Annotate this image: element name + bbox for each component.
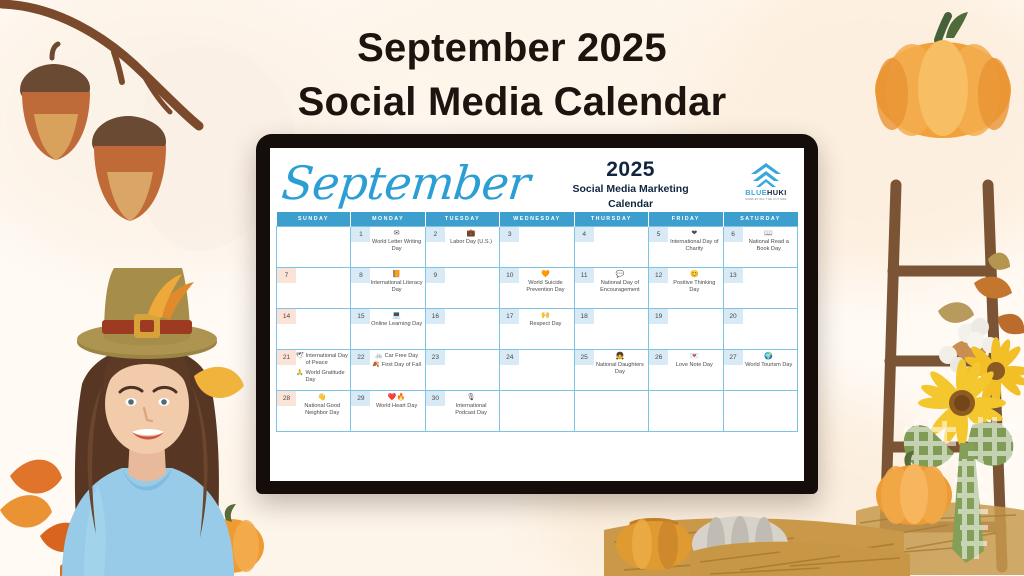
calendar-month-script: September	[279, 156, 532, 210]
event-emoji-icon: 🌍	[743, 353, 795, 361]
brand-second-word: HUKI	[767, 188, 787, 197]
calendar-grid: SUNDAYMONDAYTUESDAYWEDNESDAYTHURSDAYFRID…	[276, 212, 798, 432]
calendar-cell-empty[interactable]	[723, 391, 797, 432]
laptop-mockup: September 2025 Social Media Marketing Ca…	[256, 134, 818, 494]
event-emoji-icon: 😊	[668, 271, 720, 279]
calendar-day-cell-20[interactable]: 20	[723, 309, 797, 350]
day-number: 6	[724, 227, 743, 242]
calendar-event[interactable]: 🧡World Suicide Prevention Day	[519, 271, 571, 294]
weekday-header-monday: MONDAY	[351, 212, 425, 227]
calendar-event[interactable]: 👋National Good Neighbor Day	[296, 394, 348, 417]
event-label: Positive Thinking Day	[673, 280, 715, 293]
day-number: 12	[649, 268, 668, 283]
calendar-day-cell-18[interactable]: 18	[574, 309, 648, 350]
day-number: 11	[575, 268, 594, 283]
event-emoji-icon: 📖	[743, 230, 795, 238]
event-emoji-icon: ❤️🔥	[370, 394, 422, 402]
event-label: International Literacy Day	[371, 280, 423, 293]
weekday-header-row: SUNDAYMONDAYTUESDAYWEDNESDAYTHURSDAYFRID…	[277, 212, 798, 227]
laptop-lid: September 2025 Social Media Marketing Ca…	[256, 134, 818, 494]
calendar-week-row: 21🕊International Day of Peace🙏World Grat…	[277, 350, 798, 391]
day-number: 29	[351, 391, 370, 406]
calendar-day-cell-15[interactable]: 15💻Online Learning Day	[351, 309, 425, 350]
event-emoji-icon: 🧡	[519, 271, 571, 279]
day-number: 4	[575, 227, 594, 242]
calendar-day-cell-13[interactable]: 13	[723, 268, 797, 309]
calendar-day-cell-25[interactable]: 25👧National Daughters Day	[574, 350, 648, 391]
calendar-day-cell-1[interactable]: 1✉World Letter Writing Day	[351, 227, 425, 268]
calendar-day-cell-19[interactable]: 19	[649, 309, 723, 350]
calendar-day-cell-11[interactable]: 11💬National Day of Encouragement	[574, 268, 648, 309]
event-label: International Day of Peace	[306, 353, 349, 368]
brand-logo: BLUEHUKI MARKETING THE FUTURE	[738, 156, 794, 201]
brand-tagline: MARKETING THE FUTURE	[745, 197, 786, 201]
calendar-event[interactable]: 🙏World Gratitude Day	[296, 370, 348, 385]
calendar-day-cell-8[interactable]: 8📙International Literacy Day	[351, 268, 425, 309]
event-emoji-icon: ❤	[668, 230, 720, 238]
weekday-header-tuesday: TUESDAY	[425, 212, 499, 227]
calendar-day-cell-6[interactable]: 6📖National Read a Book Day	[723, 227, 797, 268]
event-label: National Read a Book Day	[749, 239, 789, 252]
event-label: Respect Day	[529, 321, 561, 327]
calendar-event[interactable]: 📖National Read a Book Day	[743, 230, 795, 253]
headline-line-1: September 2025	[0, 26, 1024, 72]
chevron-stack-icon	[749, 162, 783, 188]
calendar-cell-empty[interactable]	[574, 391, 648, 432]
calendar-document: September 2025 Social Media Marketing Ca…	[270, 148, 804, 481]
calendar-day-cell-10[interactable]: 10🧡World Suicide Prevention Day	[500, 268, 574, 309]
event-label: Car Free Day	[385, 353, 419, 360]
calendar-day-cell-14[interactable]: 14	[277, 309, 351, 350]
event-label: Online Learning Day	[371, 321, 422, 327]
weekday-header-friday: FRIDAY	[649, 212, 723, 227]
day-number: 8	[351, 268, 370, 283]
day-number: 24	[500, 350, 519, 365]
page-title: September 2025 Social Media Calendar	[0, 26, 1024, 125]
event-label: National Good Neighbor Day	[304, 403, 340, 416]
laptop-screen: September 2025 Social Media Marketing Ca…	[270, 148, 804, 481]
calendar-event[interactable]: 🕊International Day of Peace	[296, 353, 348, 368]
day-number: 20	[724, 309, 743, 324]
event-label: Love Note Day	[676, 362, 713, 368]
day-number: 13	[724, 268, 743, 283]
day-number: 16	[426, 309, 445, 324]
day-number: 5	[649, 227, 668, 242]
calendar-day-cell-7[interactable]: 7	[277, 268, 351, 309]
event-emoji-icon: 📙	[370, 271, 422, 279]
calendar-day-cell-26[interactable]: 26💌Love Note Day	[649, 350, 723, 391]
event-label: First Day of Fall	[382, 362, 421, 369]
event-label: World Suicide Prevention Day	[526, 280, 564, 293]
event-label: Labor Day (U.S.)	[450, 239, 492, 245]
calendar-cell-empty[interactable]	[500, 391, 574, 432]
calendar-week-row: 1415💻Online Learning Day1617🙌Respect Day…	[277, 309, 798, 350]
day-number	[575, 391, 594, 406]
day-number	[724, 391, 743, 406]
day-number: 15	[351, 309, 370, 324]
calendar-day-cell-30[interactable]: 30🎙International Podcast Day	[425, 391, 499, 432]
calendar-event[interactable]: 🚲Car Free Day	[370, 353, 422, 360]
event-label: World Tourism Day	[745, 362, 792, 368]
calendar-day-cell-16[interactable]: 16	[425, 309, 499, 350]
day-number: 14	[277, 309, 296, 324]
event-label: World Gratitude Day	[305, 370, 348, 385]
calendar-day-cell-27[interactable]: 27🌍World Tourism Day	[723, 350, 797, 391]
day-number: 26	[649, 350, 668, 365]
day-number: 17	[500, 309, 519, 324]
event-emoji-icon: 🕊	[296, 353, 304, 360]
calendar-event[interactable]: ❤International Day of Charity	[668, 230, 720, 253]
calendar-day-cell-2[interactable]: 2💼Labor Day (U.S.)	[425, 227, 499, 268]
day-number: 19	[649, 309, 668, 324]
calendar-day-cell-5[interactable]: 5❤International Day of Charity	[649, 227, 723, 268]
calendar-event[interactable]: 💌Love Note Day	[668, 353, 720, 369]
calendar-week-row: 78📙International Literacy Day910🧡World S…	[277, 268, 798, 309]
calendar-event[interactable]: 🍂First Day of Fall	[370, 362, 422, 369]
day-number: 27	[724, 350, 743, 365]
calendar-subtitle-line-2: Calendar	[523, 198, 738, 211]
calendar-event[interactable]: 🎙International Podcast Day	[445, 394, 497, 417]
calendar-day-cell-29[interactable]: 29❤️🔥World Heart Day	[351, 391, 425, 432]
day-number	[500, 391, 519, 406]
calendar-day-cell-23[interactable]: 23	[425, 350, 499, 391]
brand-first-word: BLUE	[745, 188, 767, 197]
event-emoji-icon: 🚲	[375, 353, 382, 360]
day-number: 21	[277, 350, 296, 365]
day-number: 23	[426, 350, 445, 365]
weekday-header-saturday: SATURDAY	[723, 212, 797, 227]
calendar-header: September 2025 Social Media Marketing Ca…	[276, 154, 798, 212]
event-emoji-icon: 🎙	[445, 394, 497, 402]
calendar-event[interactable]: ❤️🔥World Heart Day	[370, 394, 422, 410]
day-number	[277, 227, 296, 242]
calendar-day-cell-9[interactable]: 9	[425, 268, 499, 309]
event-label: International Day of Charity	[670, 239, 719, 252]
calendar-cell-empty[interactable]	[649, 391, 723, 432]
calendar-day-cell-28[interactable]: 28👋National Good Neighbor Day	[277, 391, 351, 432]
calendar-day-cell-21[interactable]: 21🕊International Day of Peace🙏World Grat…	[277, 350, 351, 391]
brand-wordmark: BLUEHUKI	[745, 189, 786, 197]
calendar-event[interactable]: 🌍World Tourism Day	[743, 353, 795, 369]
day-number: 25	[575, 350, 594, 365]
calendar-week-row: 28👋National Good Neighbor Day29❤️🔥World …	[277, 391, 798, 432]
day-number: 7	[277, 268, 296, 283]
event-label: National Day of Encouragement	[600, 280, 640, 293]
event-emoji-icon: 🍂	[372, 362, 379, 369]
event-emoji-icon: 💬	[594, 271, 646, 279]
event-emoji-icon: 🙌	[519, 312, 571, 320]
weekday-header-sunday: SUNDAY	[277, 212, 351, 227]
day-number: 1	[351, 227, 370, 242]
day-number: 30	[426, 391, 445, 406]
day-number: 2	[426, 227, 445, 242]
event-emoji-icon: 👋	[296, 394, 348, 402]
calendar-event[interactable]: 👧National Daughters Day	[594, 353, 646, 376]
calendar-event[interactable]: 💬National Day of Encouragement	[594, 271, 646, 294]
calendar-day-cell-4[interactable]: 4	[574, 227, 648, 268]
event-label: World Heart Day	[376, 403, 417, 409]
day-number: 9	[426, 268, 445, 283]
calendar-event[interactable]: 💼Labor Day (U.S.)	[445, 230, 497, 246]
event-emoji-icon: ✉	[370, 230, 422, 238]
calendar-event[interactable]: 🙌Respect Day	[519, 312, 571, 328]
day-number: 28	[277, 391, 296, 406]
calendar-event[interactable]: ✉World Letter Writing Day	[370, 230, 422, 253]
event-emoji-icon: 💼	[445, 230, 497, 238]
calendar-event[interactable]: 😊Positive Thinking Day	[668, 271, 720, 294]
calendar-year: 2025	[523, 159, 738, 181]
event-emoji-icon: 🙏	[296, 370, 303, 377]
day-number: 10	[500, 268, 519, 283]
calendar-title-block: 2025 Social Media Marketing Calendar	[523, 156, 738, 210]
event-emoji-icon: 💻	[370, 312, 422, 320]
day-number: 22	[351, 350, 370, 365]
day-number: 18	[575, 309, 594, 324]
calendar-cell-empty[interactable]	[277, 227, 351, 268]
event-label: National Daughters Day	[596, 362, 644, 375]
calendar-day-cell-3[interactable]: 3	[500, 227, 574, 268]
event-emoji-icon: 👧	[594, 353, 646, 361]
day-number: 3	[500, 227, 519, 242]
event-emoji-icon: 💌	[668, 353, 720, 361]
calendar-day-cell-22[interactable]: 22🚲Car Free Day🍂First Day of Fall	[351, 350, 425, 391]
event-label: World Letter Writing Day	[372, 239, 421, 252]
calendar-day-cell-24[interactable]: 24	[500, 350, 574, 391]
poster-canvas: September 2025 Social Media Calendar	[0, 0, 1024, 576]
calendar-event[interactable]: 📙International Literacy Day	[370, 271, 422, 294]
calendar-week-row: 1✉World Letter Writing Day2💼Labor Day (U…	[277, 227, 798, 268]
weekday-header-wednesday: WEDNESDAY	[500, 212, 574, 227]
calendar-subtitle-line-1: Social Media Marketing	[523, 183, 738, 196]
day-number	[649, 391, 668, 406]
calendar-day-cell-12[interactable]: 12😊Positive Thinking Day	[649, 268, 723, 309]
weekday-header-thursday: THURSDAY	[574, 212, 648, 227]
calendar-day-cell-17[interactable]: 17🙌Respect Day	[500, 309, 574, 350]
calendar-event[interactable]: 💻Online Learning Day	[370, 312, 422, 328]
headline-line-2: Social Media Calendar	[0, 80, 1024, 126]
event-label: International Podcast Day	[455, 403, 487, 416]
